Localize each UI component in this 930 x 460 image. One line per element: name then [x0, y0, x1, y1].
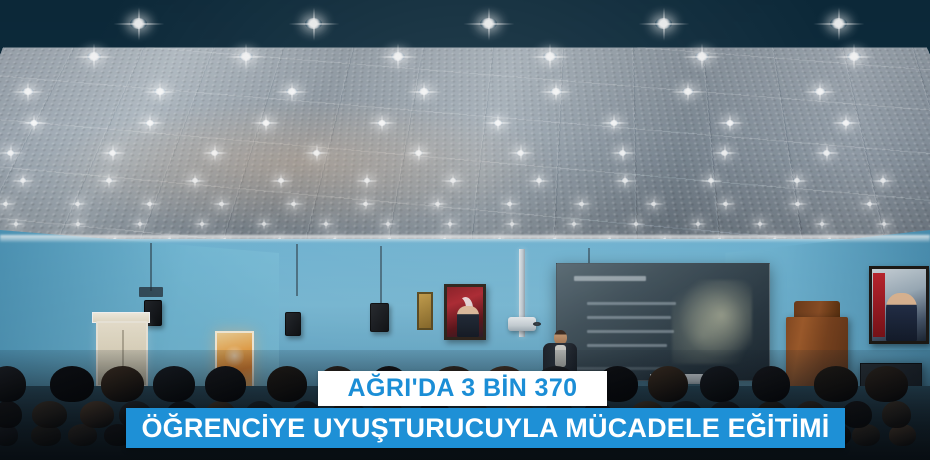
pendant-wire-1 — [150, 243, 152, 291]
ceiling-downlight — [682, 88, 694, 95]
ceiling-downlight — [621, 178, 629, 183]
slide-bullet-4 — [587, 344, 668, 347]
ceiling-downlight — [19, 178, 27, 183]
wall-speaker-center — [285, 312, 301, 336]
audience-head — [205, 366, 246, 402]
audience-head — [101, 366, 144, 402]
ceiling-downlight — [881, 222, 887, 226]
ceiling-downlight — [362, 202, 369, 206]
ceiling-downlight — [757, 222, 763, 226]
ceiling-downlight — [707, 178, 715, 183]
ceiling-downlight — [391, 52, 405, 61]
audience-head — [267, 366, 307, 402]
ceiling-downlight — [819, 222, 825, 226]
wall-speaker-right — [370, 303, 389, 332]
ceiling-downlight — [323, 222, 329, 226]
ceiling-downlight — [578, 202, 585, 206]
ceiling-downlight — [493, 120, 503, 126]
audience-head — [648, 366, 688, 402]
ceiling-downlight — [137, 222, 143, 226]
ceiling-downlight — [879, 178, 887, 183]
ceiling-downlight — [655, 18, 672, 29]
headline-line2-text: ÖĞRENCİYE UYUŞTURUCUYLA MÜCADELE EĞİTİMİ — [141, 415, 829, 442]
audience-head — [882, 401, 911, 428]
ceiling-downlight — [105, 178, 113, 183]
ceiling-downlight — [108, 150, 117, 156]
audience-head — [752, 366, 790, 402]
ceiling-downlight — [633, 222, 639, 226]
ceiling-downlight — [363, 178, 371, 183]
ceiling-downlight — [535, 178, 543, 183]
flag-backdrop — [873, 273, 885, 336]
wall-ceiling-cornice — [0, 235, 930, 242]
ceiling-downlight — [13, 222, 19, 226]
ceiling-downlight — [218, 202, 225, 206]
ceiling-downlight — [447, 222, 453, 226]
audience-head — [700, 366, 739, 402]
ceiling-downlight — [480, 18, 497, 29]
ceiling-downlight — [722, 202, 729, 206]
ceiling-downlight — [543, 52, 557, 61]
audience-head — [50, 366, 94, 402]
ceiling-downlight — [87, 52, 101, 61]
ceiling-downlight — [199, 222, 205, 226]
audience-head — [814, 366, 858, 402]
ceiling-downlight — [130, 18, 147, 29]
ceiling-downlight — [650, 202, 657, 206]
headline-line1-text: AĞRI'DA 3 BİN 370 — [348, 376, 578, 401]
ceiling-downlight — [210, 150, 219, 156]
official-portrait — [869, 266, 929, 344]
headline-banner-line2: ÖĞRENCİYE UYUŞTURUCUYLA MÜCADELE EĞİTİMİ — [126, 408, 845, 448]
ceiling-downlight — [841, 120, 851, 126]
news-photo-with-headline: AĞRI'DA 3 BİN 370 ÖĞRENCİYE UYUŞTURUCUYL… — [0, 0, 930, 460]
audience-head — [842, 401, 872, 428]
ceiling-downlight — [414, 150, 423, 156]
portrait-figure — [457, 306, 479, 337]
ceiling-downlight — [847, 52, 861, 61]
audience-head — [32, 401, 67, 428]
ceiling-downlight — [22, 88, 34, 95]
ceiling-downlight — [506, 202, 513, 206]
ceiling-downlight — [695, 222, 701, 226]
ceiling-downlight — [794, 202, 801, 206]
ceiling-downlight — [509, 222, 515, 226]
ceiling-downlight — [550, 88, 562, 95]
ceiling-downlight — [830, 18, 847, 29]
ceiling-downlight — [695, 52, 709, 61]
pendant-wire-2 — [296, 244, 298, 296]
ceiling-downlight — [866, 202, 873, 206]
ceiling-downlight — [312, 150, 321, 156]
ceiling-downlight — [261, 120, 271, 126]
ceiling-downlight — [618, 150, 627, 156]
ceiling-downlight — [571, 222, 577, 226]
audience-head — [80, 401, 114, 428]
slide-bullet-3 — [587, 330, 674, 333]
wall-plaque — [417, 292, 433, 330]
audience-head — [865, 366, 908, 402]
ceiling-downlight — [434, 202, 441, 206]
pendant-wire-3 — [380, 246, 382, 304]
ceiling-downlight — [793, 178, 801, 183]
ceiling-downlight — [261, 222, 267, 226]
ceiling-downlight — [286, 88, 298, 95]
ceiling-downlight — [239, 52, 253, 61]
slide-bullet-1 — [587, 302, 676, 305]
ceiling-downlight — [191, 178, 199, 183]
audience-head — [153, 366, 195, 402]
ceiling-projector — [508, 317, 536, 331]
ataturk-portrait — [444, 284, 486, 340]
ceiling-downlight — [2, 202, 9, 206]
audience-head — [0, 401, 22, 428]
ceiling-downlight — [305, 18, 322, 29]
pendant-fixture-1 — [139, 287, 163, 297]
slide-title-line — [574, 276, 646, 281]
ceiling-downlight — [75, 222, 81, 226]
ceiling-downlight — [277, 178, 285, 183]
ceiling-downlight — [418, 88, 430, 95]
ceiling-downlight — [74, 202, 81, 206]
ceiling-downlight — [516, 150, 525, 156]
ceiling-warm-reflection — [8, 97, 574, 236]
ceiling-downlight — [449, 178, 457, 183]
ceiling-downlight — [290, 202, 297, 206]
ceiling-downlight — [6, 150, 15, 156]
ceiling-downlight — [385, 222, 391, 226]
ceiling-downlight — [29, 120, 39, 126]
portrait-figure — [886, 293, 917, 341]
slide-bullet-2 — [587, 316, 672, 319]
ceiling-downlight — [377, 120, 387, 126]
ceiling-downlight — [145, 120, 155, 126]
ceiling-downlight — [814, 88, 826, 95]
ceiling-downlight — [725, 120, 735, 126]
ceiling-downlight — [822, 150, 831, 156]
ceiling-downlight — [154, 88, 166, 95]
ceiling-downlight — [146, 202, 153, 206]
headline-banner-line1: AĞRI'DA 3 BİN 370 — [318, 371, 607, 406]
ceiling-downlight — [609, 120, 619, 126]
ceiling-downlight — [720, 150, 729, 156]
